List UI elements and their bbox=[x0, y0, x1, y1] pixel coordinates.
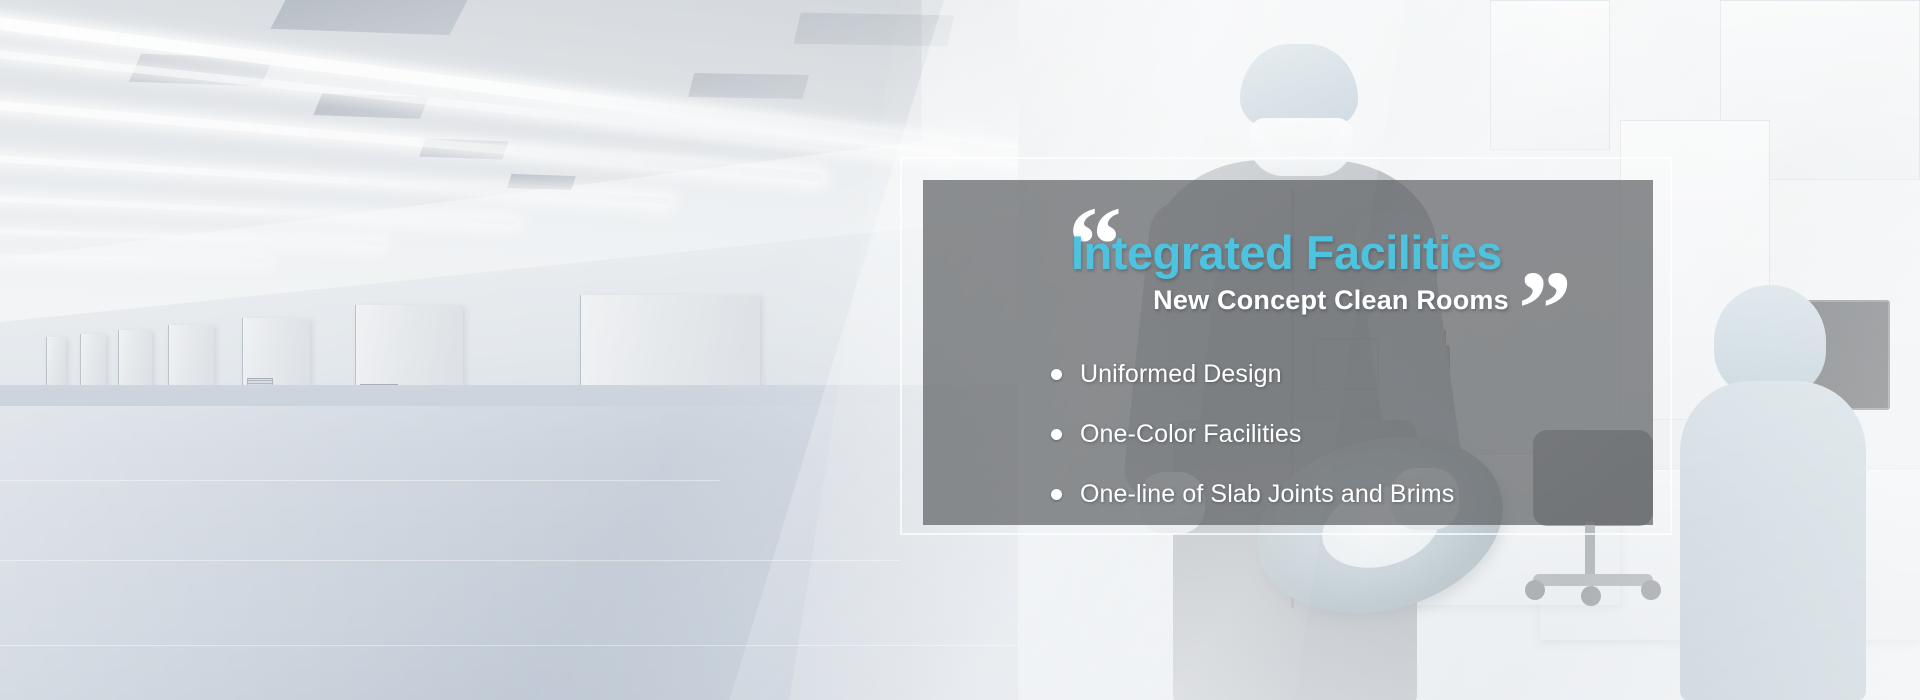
page-subtitle: New Concept Clean Rooms bbox=[1071, 285, 1591, 316]
list-item: Uniformed Design bbox=[1051, 352, 1454, 396]
ceiling-tile bbox=[688, 72, 809, 98]
bullet-dot-icon bbox=[1051, 489, 1062, 500]
list-item-label: Uniformed Design bbox=[1080, 360, 1282, 389]
list-item-label: One-line of Slab Joints and Brims bbox=[1080, 480, 1454, 509]
seated-lab-worker bbox=[1670, 285, 1880, 700]
chair-wheel bbox=[1581, 586, 1601, 606]
bullet-dot-icon bbox=[1051, 369, 1062, 380]
hero-banner: “ ” Integrated Facilities New Concept Cl… bbox=[0, 0, 1920, 700]
bullet-dot-icon bbox=[1051, 429, 1062, 440]
cleanroom-module bbox=[80, 334, 106, 392]
floor-seam bbox=[0, 645, 1080, 646]
list-item: One-line of Slab Joints and Brims bbox=[1051, 472, 1454, 516]
list-item: One-Color Facilities bbox=[1051, 412, 1454, 456]
chair-base bbox=[1533, 574, 1653, 586]
lab-ceiling-panel bbox=[1490, 0, 1610, 150]
feature-list: Uniformed Design One-Color Facilities On… bbox=[1051, 352, 1454, 532]
chair-post bbox=[1585, 522, 1595, 580]
floor-seam bbox=[0, 560, 900, 561]
chair-wheel bbox=[1525, 580, 1545, 600]
cleanroom-module bbox=[46, 337, 66, 387]
ceiling-tile bbox=[794, 13, 954, 46]
technician-face-mask bbox=[1249, 118, 1353, 176]
ceiling-tile bbox=[271, 0, 468, 35]
worker-gown bbox=[1680, 381, 1866, 700]
chair-wheel bbox=[1641, 580, 1661, 600]
quote-card: “ ” Integrated Facilities New Concept Cl… bbox=[923, 180, 1653, 525]
floor-seam bbox=[0, 480, 720, 481]
page-title: Integrated Facilities bbox=[1071, 228, 1591, 277]
list-item-label: One-Color Facilities bbox=[1080, 420, 1302, 449]
